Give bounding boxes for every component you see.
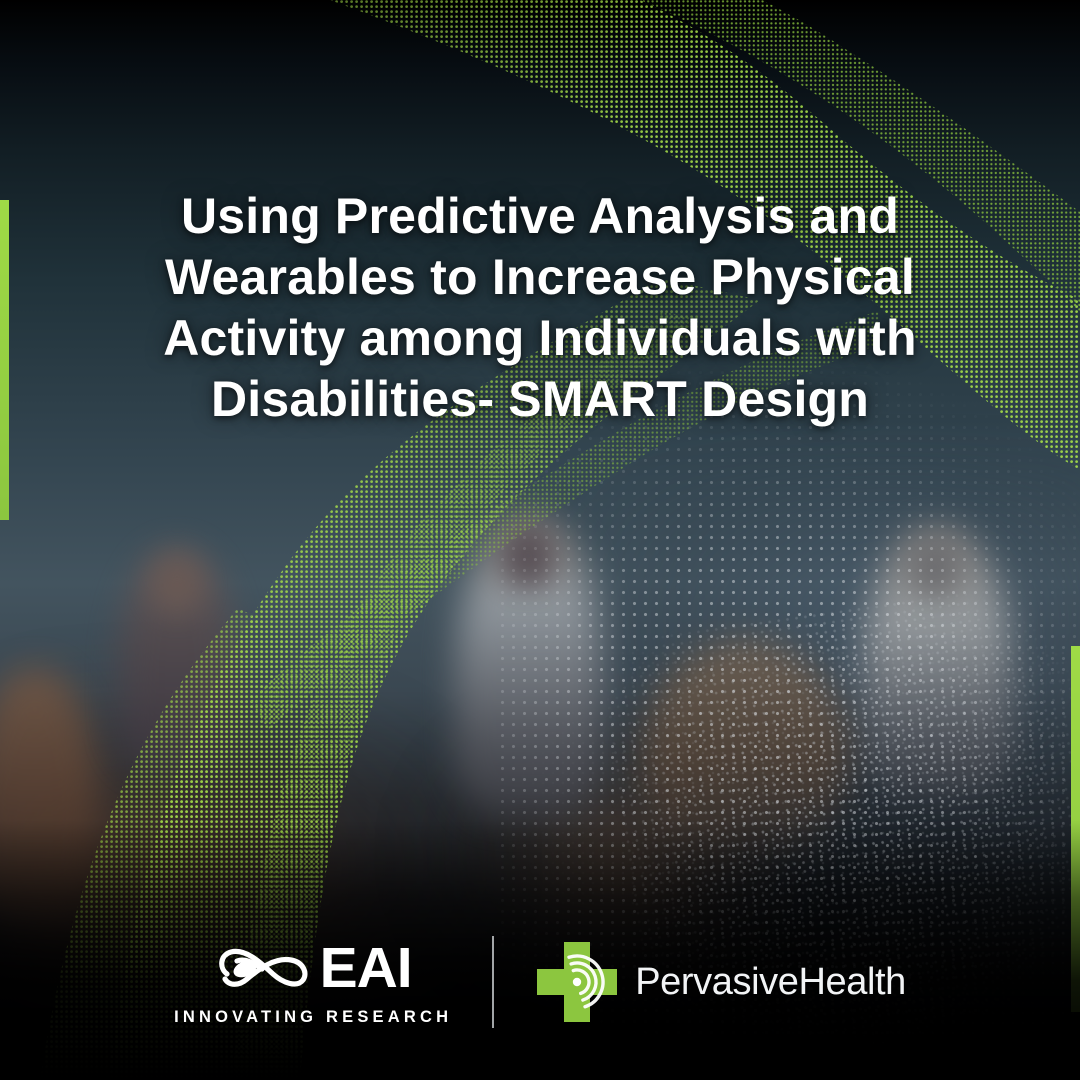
pervasive-health-logo[interactable]: PervasiveHealth	[534, 939, 906, 1025]
green-cross-signal-icon	[534, 939, 620, 1025]
logo-lockup: EAI INNOVATING RESEARCH PervasiveHealth	[0, 930, 1080, 1034]
eai-tagline: INNOVATING RESEARCH	[174, 1008, 452, 1027]
infinity-ribbon-icon	[215, 938, 311, 1000]
page-title: Using Predictive Analysis and Wearables …	[0, 186, 1080, 430]
blurred-person-head	[152, 556, 202, 614]
logo-divider	[492, 936, 494, 1028]
eai-wordmark: EAI	[320, 942, 412, 994]
poster-canvas: Using Predictive Analysis and Wearables …	[0, 0, 1080, 1080]
pervasive-health-wordmark: PervasiveHealth	[635, 961, 906, 1004]
eai-logo[interactable]: EAI INNOVATING RESEARCH	[174, 938, 452, 1027]
